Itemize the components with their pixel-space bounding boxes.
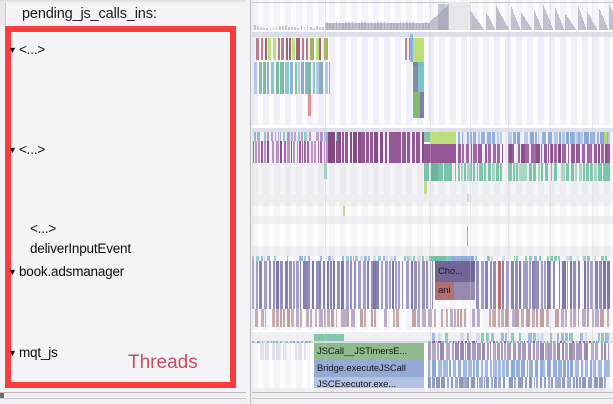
flame-bar[interactable] bbox=[271, 62, 274, 94]
flame-bar[interactable] bbox=[604, 360, 608, 377]
flame-bar[interactable] bbox=[593, 360, 597, 377]
flame-bar[interactable] bbox=[538, 163, 540, 181]
flame-bar[interactable] bbox=[585, 360, 588, 377]
flame-bar[interactable] bbox=[582, 309, 586, 327]
flame-bar[interactable] bbox=[493, 360, 497, 377]
flame-bar[interactable] bbox=[449, 360, 451, 377]
flame-bar[interactable] bbox=[252, 194, 613, 202]
flame-bar[interactable] bbox=[478, 144, 482, 163]
flame-bar[interactable] bbox=[350, 261, 352, 309]
flame-bar[interactable] bbox=[343, 206, 345, 216]
flame-bar[interactable] bbox=[319, 38, 321, 60]
flame-bar[interactable] bbox=[445, 333, 448, 341]
flame-track-group-3[interactable] bbox=[252, 256, 613, 330]
flame-bar[interactable] bbox=[486, 333, 489, 341]
flame-bar[interactable] bbox=[418, 261, 420, 309]
flame-bar[interactable] bbox=[488, 144, 491, 163]
flame-bar[interactable] bbox=[523, 261, 526, 309]
flame-bar[interactable] bbox=[566, 163, 569, 181]
flame-bar[interactable] bbox=[333, 261, 335, 309]
flame-bar[interactable] bbox=[267, 132, 269, 141]
flame-bar[interactable] bbox=[579, 163, 583, 181]
flame-bar[interactable] bbox=[604, 132, 607, 144]
flame-bar[interactable] bbox=[536, 343, 539, 360]
flame-bar[interactable] bbox=[540, 343, 544, 360]
flame-bar[interactable] bbox=[563, 360, 566, 377]
flame-bar[interactable] bbox=[502, 360, 505, 377]
flame-bar[interactable] bbox=[607, 144, 610, 163]
flame-bar[interactable] bbox=[477, 309, 481, 327]
flame-bar[interactable] bbox=[531, 144, 535, 163]
flame-bar[interactable] bbox=[281, 38, 284, 60]
panel-bottom-scrollbar[interactable] bbox=[0, 392, 246, 404]
flame-bar[interactable] bbox=[395, 261, 397, 309]
flame-bar[interactable] bbox=[540, 309, 544, 327]
flame-bar[interactable] bbox=[473, 360, 475, 377]
flame-bar-label[interactable]: Bridge.executeJSCall bbox=[314, 360, 424, 377]
flame-track-group-4[interactable] bbox=[252, 332, 613, 392]
flame-bar[interactable] bbox=[351, 309, 355, 327]
flame-bar[interactable] bbox=[284, 141, 286, 163]
flame-bar[interactable] bbox=[285, 261, 288, 309]
flame-bar[interactable] bbox=[446, 309, 449, 327]
flame-track-group-2[interactable] bbox=[252, 128, 613, 206]
flame-bar[interactable] bbox=[417, 309, 420, 327]
flame-bar[interactable] bbox=[432, 333, 435, 341]
flame-bar[interactable] bbox=[597, 132, 599, 144]
flame-bar[interactable] bbox=[586, 163, 589, 181]
flame-bar[interactable] bbox=[405, 38, 407, 60]
flame-bar[interactable] bbox=[587, 309, 589, 327]
flame-bar[interactable] bbox=[396, 309, 399, 327]
triangle-down-icon[interactable]: ▼ bbox=[8, 145, 19, 155]
flame-bar[interactable] bbox=[358, 132, 361, 163]
flame-bar[interactable] bbox=[594, 144, 598, 163]
flame-bar[interactable] bbox=[454, 309, 456, 327]
flame-bar[interactable] bbox=[261, 38, 264, 60]
flame-bar[interactable] bbox=[573, 309, 576, 327]
flame-bar[interactable] bbox=[259, 62, 263, 94]
flame-bar[interactable] bbox=[422, 309, 426, 327]
flame-bar[interactable] bbox=[358, 261, 361, 309]
flame-bar[interactable] bbox=[565, 343, 568, 360]
flame-bar[interactable] bbox=[385, 261, 388, 309]
flame-bar[interactable] bbox=[398, 261, 400, 309]
flame-bar[interactable] bbox=[492, 309, 496, 327]
flame-bar[interactable] bbox=[331, 309, 334, 327]
flame-bar[interactable] bbox=[496, 163, 499, 181]
panel-bottom-nub[interactable] bbox=[0, 393, 4, 398]
flame-track-spacer-2[interactable] bbox=[252, 216, 613, 224]
flame-bar[interactable] bbox=[528, 343, 531, 360]
flame-bar[interactable] bbox=[517, 132, 520, 144]
flame-bar[interactable] bbox=[542, 132, 546, 144]
flame-bar[interactable] bbox=[533, 343, 535, 360]
flame-bar[interactable] bbox=[353, 132, 357, 163]
flame-bar[interactable] bbox=[575, 360, 579, 377]
flame-bar[interactable] bbox=[320, 141, 322, 163]
flame-bar[interactable] bbox=[265, 343, 269, 360]
flame-bar[interactable] bbox=[432, 360, 436, 377]
flame-bar[interactable] bbox=[548, 144, 550, 163]
flame-bar[interactable] bbox=[385, 132, 388, 163]
flame-bar[interactable] bbox=[538, 132, 540, 144]
flame-bar[interactable] bbox=[381, 261, 384, 309]
flame-bar[interactable] bbox=[305, 62, 307, 94]
flame-bar[interactable] bbox=[608, 343, 610, 360]
thread-tree-row[interactable]: ▼<...> bbox=[8, 142, 45, 157]
flame-bar[interactable] bbox=[402, 132, 406, 163]
flame-bar[interactable] bbox=[584, 343, 588, 360]
flame-bar[interactable] bbox=[578, 309, 580, 327]
flame-bar[interactable] bbox=[455, 343, 459, 360]
flame-bar[interactable] bbox=[529, 163, 532, 181]
flame-bar[interactable] bbox=[308, 94, 311, 116]
flame-bar[interactable] bbox=[268, 38, 271, 60]
flame-bar[interactable] bbox=[477, 163, 479, 181]
flame-bar[interactable] bbox=[521, 360, 525, 377]
flame-bar[interactable] bbox=[298, 343, 302, 360]
flame-bar[interactable] bbox=[376, 261, 378, 309]
flame-bar[interactable] bbox=[516, 360, 520, 377]
flame-bar[interactable] bbox=[546, 309, 549, 327]
flame-bar[interactable] bbox=[455, 163, 457, 181]
flame-bar[interactable] bbox=[569, 333, 573, 341]
flame-bar[interactable] bbox=[571, 144, 575, 163]
flame-bar[interactable] bbox=[276, 141, 279, 163]
flame-bar[interactable] bbox=[473, 144, 476, 163]
flame-bar[interactable] bbox=[283, 343, 286, 360]
flame-bar[interactable] bbox=[553, 360, 557, 377]
flame-bar[interactable] bbox=[287, 132, 290, 141]
flame-bar[interactable] bbox=[568, 144, 570, 163]
flame-bar[interactable] bbox=[402, 261, 404, 309]
flame-bar[interactable] bbox=[296, 261, 298, 309]
flame-bar[interactable] bbox=[525, 144, 529, 163]
flame-bar[interactable] bbox=[576, 144, 581, 163]
flame-bar[interactable] bbox=[561, 333, 565, 341]
flame-bar[interactable] bbox=[481, 261, 484, 309]
flame-bar[interactable] bbox=[392, 261, 394, 309]
flame-bar[interactable] bbox=[489, 309, 491, 327]
flame-bar[interactable] bbox=[605, 333, 609, 341]
flame-bar[interactable] bbox=[502, 261, 505, 309]
flame-bar[interactable] bbox=[276, 309, 279, 327]
flame-bar[interactable] bbox=[487, 132, 491, 144]
flame-bar[interactable] bbox=[316, 132, 319, 141]
flame-bar[interactable] bbox=[261, 141, 263, 163]
flame-bar[interactable] bbox=[598, 360, 602, 377]
flame-bar[interactable] bbox=[457, 309, 459, 327]
flame-bar[interactable] bbox=[541, 144, 543, 163]
flame-bar[interactable] bbox=[482, 343, 485, 360]
flame-bar[interactable] bbox=[478, 132, 481, 144]
flame-bar[interactable] bbox=[476, 360, 479, 377]
flame-bar[interactable] bbox=[559, 132, 561, 144]
flame-bar-label[interactable]: JSCExecutor.exe... bbox=[314, 377, 424, 393]
triangle-down-icon[interactable]: ▼ bbox=[8, 45, 19, 55]
flame-bar[interactable] bbox=[389, 261, 391, 309]
flame-bar[interactable] bbox=[452, 343, 455, 360]
flame-bar[interactable] bbox=[440, 343, 444, 360]
flame-bar[interactable] bbox=[293, 261, 295, 309]
flame-bar[interactable] bbox=[366, 132, 369, 163]
flame-bar[interactable] bbox=[513, 132, 516, 144]
flame-bar[interactable] bbox=[462, 144, 464, 163]
flame-bar[interactable] bbox=[267, 141, 269, 163]
flame-bar[interactable] bbox=[477, 343, 481, 360]
flame-bar[interactable] bbox=[529, 360, 533, 377]
flame-bar[interactable] bbox=[523, 163, 527, 181]
flame-bar[interactable] bbox=[497, 343, 500, 360]
flame-bar[interactable] bbox=[345, 132, 348, 163]
flame-bar[interactable] bbox=[535, 261, 538, 309]
flame-bar[interactable] bbox=[424, 163, 429, 181]
flame-bar[interactable] bbox=[298, 132, 300, 141]
flame-bar[interactable] bbox=[341, 261, 344, 309]
flame-bar[interactable] bbox=[467, 226, 468, 246]
flame-bar[interactable] bbox=[473, 132, 476, 144]
flame-bar[interactable] bbox=[271, 132, 274, 141]
flame-bar[interactable] bbox=[416, 132, 420, 163]
overview-sawtooth-chart[interactable] bbox=[252, 0, 613, 30]
flame-bar[interactable] bbox=[532, 309, 535, 327]
flame-bar[interactable] bbox=[557, 333, 559, 341]
flame-bar[interactable] bbox=[500, 132, 502, 144]
flame-bar[interactable] bbox=[431, 163, 438, 181]
flame-bar[interactable] bbox=[481, 360, 483, 377]
flame-bar[interactable] bbox=[511, 261, 514, 309]
flame-bar[interactable] bbox=[529, 261, 531, 309]
flame-bar[interactable] bbox=[519, 261, 521, 309]
flame-bar[interactable] bbox=[260, 343, 264, 360]
flame-bar[interactable] bbox=[543, 360, 545, 377]
flame-bar[interactable] bbox=[327, 309, 330, 327]
flame-bar[interactable] bbox=[608, 132, 610, 144]
flame-bar[interactable] bbox=[302, 38, 304, 60]
flame-bar[interactable] bbox=[275, 132, 276, 141]
flame-bar[interactable] bbox=[280, 62, 284, 94]
flame-bar[interactable] bbox=[524, 132, 528, 144]
flame-bar[interactable] bbox=[301, 62, 304, 94]
thread-tree-row[interactable]: ▼<...> bbox=[8, 42, 45, 57]
flame-bar[interactable] bbox=[535, 132, 537, 144]
flame-bar[interactable] bbox=[392, 132, 396, 163]
flame-bar[interactable] bbox=[598, 333, 600, 341]
flame-bar[interactable] bbox=[530, 132, 534, 144]
flame-bar[interactable] bbox=[583, 163, 585, 181]
flame-bar[interactable] bbox=[492, 163, 495, 181]
flame-bar[interactable] bbox=[310, 38, 314, 60]
flame-bar[interactable] bbox=[562, 144, 565, 163]
flame-bar[interactable] bbox=[286, 341, 288, 343]
flame-bar[interactable] bbox=[255, 309, 258, 327]
flame-bar[interactable] bbox=[500, 163, 502, 181]
flame-bar[interactable] bbox=[292, 38, 296, 60]
flame-bar[interactable] bbox=[414, 261, 416, 309]
flame-bar[interactable] bbox=[609, 163, 610, 181]
flame-bar[interactable] bbox=[373, 261, 375, 309]
flame-bar[interactable] bbox=[267, 62, 269, 94]
flame-bar[interactable] bbox=[441, 309, 444, 327]
flame-bar[interactable] bbox=[584, 261, 586, 309]
flame-bar[interactable] bbox=[269, 261, 271, 309]
flame-bar[interactable] bbox=[606, 163, 608, 181]
flame-bar[interactable] bbox=[565, 309, 567, 327]
flame-bar[interactable] bbox=[598, 144, 600, 163]
flame-bar[interactable] bbox=[484, 163, 486, 181]
flame-bar[interactable] bbox=[434, 309, 437, 327]
flame-bar[interactable] bbox=[458, 360, 461, 377]
flame-bar[interactable] bbox=[314, 141, 316, 163]
flame-bar[interactable] bbox=[264, 141, 266, 163]
flame-bar[interactable] bbox=[490, 261, 492, 309]
flame-bar[interactable] bbox=[299, 141, 301, 163]
flame-bar[interactable] bbox=[263, 62, 266, 94]
flame-bar[interactable] bbox=[485, 144, 487, 163]
flame-bar[interactable] bbox=[412, 309, 416, 327]
flame-bar[interactable] bbox=[304, 132, 307, 141]
flame-bar[interactable] bbox=[519, 163, 523, 181]
flame-bar[interactable] bbox=[285, 62, 289, 94]
flame-bar[interactable] bbox=[595, 309, 599, 327]
flame-bar[interactable] bbox=[544, 144, 547, 163]
flame-bar[interactable] bbox=[505, 333, 508, 341]
flame-bar[interactable] bbox=[467, 333, 469, 341]
flame-bar[interactable] bbox=[307, 141, 309, 163]
flame-bar[interactable] bbox=[304, 343, 307, 360]
flame-bar[interactable] bbox=[554, 132, 559, 144]
flame-bar[interactable] bbox=[580, 333, 583, 341]
flame-bar[interactable] bbox=[393, 309, 395, 327]
flame-bar[interactable] bbox=[515, 261, 518, 309]
flame-bar[interactable] bbox=[265, 309, 267, 327]
flame-bar[interactable] bbox=[296, 38, 300, 60]
flame-bar[interactable] bbox=[253, 141, 254, 163]
flame-bar[interactable] bbox=[501, 343, 503, 360]
flame-bar[interactable] bbox=[554, 163, 557, 181]
flame-bar[interactable] bbox=[464, 163, 466, 181]
flame-bar[interactable] bbox=[296, 309, 299, 327]
flame-bar[interactable] bbox=[561, 309, 564, 327]
flame-bar[interactable] bbox=[272, 309, 275, 327]
flame-bar[interactable] bbox=[363, 261, 366, 309]
flame-bar[interactable] bbox=[554, 144, 557, 163]
flame-bar[interactable] bbox=[585, 333, 587, 341]
flame-bar[interactable] bbox=[256, 38, 260, 60]
flame-bar[interactable] bbox=[515, 309, 519, 327]
flame-bar[interactable] bbox=[460, 333, 464, 341]
flame-bar[interactable] bbox=[339, 132, 341, 163]
flame-bar[interactable] bbox=[314, 334, 344, 341]
flame-bar[interactable] bbox=[498, 309, 500, 327]
flame-bar[interactable] bbox=[450, 309, 453, 327]
flame-bar[interactable] bbox=[430, 132, 456, 144]
flame-bar[interactable] bbox=[497, 132, 499, 144]
flame-bar[interactable] bbox=[582, 144, 585, 163]
flame-chart-timeline[interactable]: Cho...aniJSCall__JSTimersE...Bridge.exec… bbox=[252, 0, 613, 404]
flame-bar[interactable] bbox=[544, 261, 547, 309]
flame-bar[interactable] bbox=[437, 343, 439, 360]
flame-bar[interactable] bbox=[257, 132, 260, 141]
flame-bar[interactable] bbox=[535, 360, 539, 377]
flame-bar[interactable] bbox=[273, 261, 275, 309]
flame-bar[interactable] bbox=[280, 132, 282, 141]
flame-bar[interactable] bbox=[464, 309, 466, 327]
flame-bar[interactable] bbox=[559, 261, 561, 309]
flame-bar[interactable] bbox=[256, 261, 258, 309]
flame-bar[interactable] bbox=[557, 343, 561, 360]
flame-bar[interactable] bbox=[291, 132, 293, 141]
flame-bar[interactable] bbox=[567, 360, 570, 377]
flame-bar[interactable] bbox=[319, 62, 323, 94]
flame-bar[interactable] bbox=[310, 309, 312, 327]
flame-bar[interactable] bbox=[561, 163, 565, 181]
flame-bar[interactable] bbox=[540, 333, 544, 341]
flame-bar[interactable] bbox=[493, 343, 496, 360]
flame-bar[interactable] bbox=[600, 309, 603, 327]
flame-bar[interactable] bbox=[533, 333, 536, 341]
flame-bar[interactable] bbox=[272, 343, 275, 360]
flame-bar[interactable] bbox=[347, 309, 349, 327]
flame-bar[interactable] bbox=[562, 132, 565, 144]
flame-bar[interactable] bbox=[252, 32, 613, 37]
flame-bar[interactable] bbox=[453, 360, 456, 377]
flame-bar[interactable] bbox=[298, 62, 300, 94]
flame-bar[interactable] bbox=[601, 144, 605, 163]
flame-bar[interactable] bbox=[578, 343, 582, 360]
flame-bar[interactable] bbox=[491, 333, 494, 341]
flame-bar[interactable] bbox=[598, 163, 602, 181]
flame-bar[interactable] bbox=[420, 92, 424, 118]
flame-bar[interactable] bbox=[374, 309, 376, 327]
flame-bar[interactable] bbox=[287, 141, 289, 163]
flame-bar[interactable] bbox=[354, 261, 357, 309]
flame-bar[interactable] bbox=[311, 141, 312, 163]
flame-bar[interactable] bbox=[312, 261, 314, 309]
flame-bar-label[interactable]: JSCall__JSTimersE... bbox=[314, 343, 424, 360]
flame-bar[interactable] bbox=[422, 261, 425, 309]
flame-bar[interactable] bbox=[521, 309, 525, 327]
thread-tree-row[interactable]: ▼book.adsmanager bbox=[8, 264, 124, 279]
flame-bar[interactable] bbox=[566, 132, 569, 144]
flame-bar[interactable] bbox=[276, 261, 279, 309]
flame-bar[interactable] bbox=[521, 144, 525, 163]
flame-bar[interactable] bbox=[443, 360, 447, 377]
flame-bar[interactable] bbox=[424, 343, 428, 392]
flame-bar[interactable] bbox=[476, 333, 479, 341]
flame-bar[interactable] bbox=[309, 132, 312, 141]
flame-bar[interactable] bbox=[463, 360, 467, 377]
flame-track-group-1[interactable] bbox=[252, 32, 613, 125]
flame-bar[interactable] bbox=[562, 261, 565, 309]
flame-bar[interactable] bbox=[407, 132, 410, 163]
flame-bar[interactable] bbox=[512, 144, 514, 163]
panel-edge-handle[interactable] bbox=[0, 3, 6, 25]
flame-bar[interactable] bbox=[553, 261, 555, 309]
flame-bar[interactable] bbox=[336, 309, 338, 327]
flame-bar[interactable] bbox=[446, 343, 450, 360]
flame-bar[interactable] bbox=[541, 163, 543, 181]
flame-bar[interactable] bbox=[571, 163, 574, 181]
flame-bar[interactable] bbox=[301, 132, 303, 141]
flame-bar[interactable] bbox=[504, 343, 506, 360]
flame-bar[interactable] bbox=[273, 38, 277, 60]
flame-bar[interactable] bbox=[418, 62, 424, 92]
flame-bar[interactable] bbox=[361, 132, 364, 163]
flame-bar[interactable] bbox=[533, 163, 537, 181]
flame-bar-label[interactable]: Cho... bbox=[435, 262, 475, 282]
